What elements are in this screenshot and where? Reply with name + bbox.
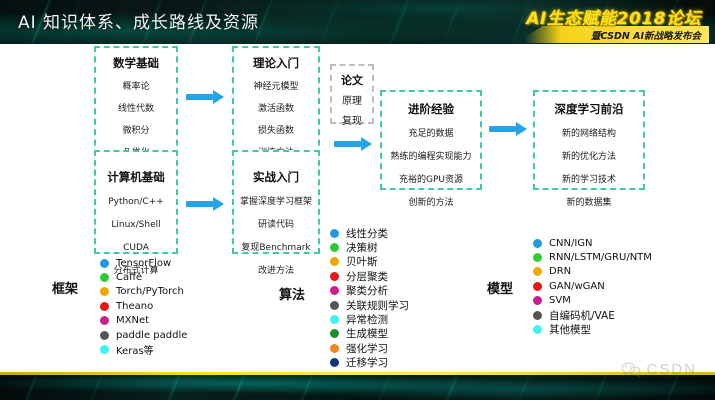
logo-sub-text: 暨CSDN AI新战略发布会 [591,28,701,42]
arrow-to-advanced-experience [334,137,372,151]
legend-item[interactable]: 贝叶斯 [330,255,409,269]
slide-header: AI 知识体系、成长路线及资源 AI生态赋能2018论坛 暨CSDN AI新战略… [0,0,715,44]
box-item: 熟练的编程实现能力 [382,153,480,162]
legend-dot-icon [100,316,109,325]
legend-dot-icon [100,345,109,354]
legend-item[interactable]: 强化学习 [330,341,409,355]
legend-dot-icon [100,302,109,311]
box-item: Python/C++ [96,198,176,207]
legend-item-label: 聚类分析 [346,283,388,298]
legend-label-frameworks: 框架 [52,278,78,297]
legend-item[interactable]: Keras等 [100,342,187,356]
legend-dot-icon [533,325,542,334]
legend-item[interactable]: 决策树 [330,240,409,254]
csdn-watermark: CSDN [621,361,697,378]
wechat-icon [621,362,641,377]
legend-item-label: 分层聚类 [346,269,388,284]
legend-list-models: CNN/IGN RNN/LSTM/GRU/NTM DRN GAN/wGAN SV… [533,236,652,337]
legend-label-models: 模型 [487,278,513,297]
box-advanced-experience: 进阶经验 充足的数据 熟练的编程实现能力 充裕的GPU资源 创新的方法 [380,90,482,190]
legend-item[interactable]: paddle paddle [100,328,187,342]
box-math-foundation: 数学基础 概率论 线性代数 微积分 凸优化 统计机器学习 [94,46,178,156]
legend-item[interactable]: MXNet [100,314,187,328]
legend-item-label: 关联规则学习 [346,298,409,313]
slide-body: 数学基础 概率论 线性代数 微积分 凸优化 统计机器学习 计算机基础 Pytho… [0,44,715,372]
legend-item-label: MXNet [116,315,149,326]
legend-item[interactable]: Torch/PyTorch [100,285,187,299]
legend-item-label: 贝叶斯 [346,254,378,269]
legend-item-label: DRN [549,266,571,277]
legend-dot-icon [100,331,109,340]
box-practice-intro: 实战入门 掌握深度学习框架 研读代码 复现Benchmark 改进方法 [232,150,320,254]
legend-item[interactable]: 迁移学习 [330,356,409,370]
box-title: 数学基础 [96,55,176,71]
arrow-foundation-to-theory [186,90,224,104]
logo-main-text: AI生态赋能2018论坛 [526,4,701,29]
legend-item[interactable]: DRN [533,265,652,279]
box-cs-foundation: 计算机基础 Python/C++ Linux/Shell CUDA 分布式计算 [94,150,178,254]
legend-list-algorithms: 线性分类 决策树 贝叶斯 分层聚类 聚类分析 关联规则学习 [330,226,409,384]
box-item: 改进方法 [234,267,318,276]
legend-item[interactable]: 分层聚类 [330,269,409,283]
legend-item[interactable]: 自编码机/VAE [533,308,652,322]
legend-item-label: Keras等 [116,342,154,357]
legend-item[interactable]: Caffe [100,270,187,284]
box-item: 充足的数据 [382,130,480,139]
legend-dot-icon [330,229,339,238]
legend-item[interactable]: 线性分类 [330,226,409,240]
legend-item-label: GAN/wGAN [549,281,605,292]
legend-item-label: 决策树 [346,240,378,255]
legend-dot-icon [330,286,339,295]
box-item: 掌握深度学习框架 [234,198,318,207]
watermark-label: CSDN [646,361,697,378]
legend-dot-icon [330,272,339,281]
legend-item-label: 自编码机/VAE [549,308,615,323]
box-item: 复现Benchmark [234,244,318,253]
legend-dot-icon [330,358,339,367]
box-item: 复现 [332,117,372,127]
box-item: Linux/Shell [96,221,176,230]
legend-item-label: TensorFlow [116,258,171,269]
page-title: AI 知识体系、成长路线及资源 [18,8,259,33]
legend-dot-icon [330,329,339,338]
box-item: 研读代码 [234,221,318,230]
legend-item[interactable]: 关联规则学习 [330,298,409,312]
legend-dot-icon [533,239,542,248]
legend-item[interactable]: SVM [533,294,652,308]
legend-dot-icon [100,273,109,282]
legend-dot-icon [330,301,339,310]
legend-item-label: 生成模型 [346,326,388,341]
box-item: 新的优化方法 [535,153,643,162]
event-logo: AI生态赋能2018论坛 暨CSDN AI新战略发布会 [484,2,709,44]
legend-item-label: RNN/LSTM/GRU/NTM [549,252,652,263]
box-title: 进阶经验 [382,101,480,117]
arrow-to-frontier [489,122,527,136]
box-title: 理论入门 [234,55,318,71]
legend-dot-icon [533,253,542,262]
box-item: 微积分 [96,127,176,136]
legend-item[interactable]: 异常检测 [330,312,409,326]
legend-dot-icon [533,311,542,320]
legend-item-label: 其他模型 [549,322,591,337]
legend-item-label: Caffe [116,272,142,283]
legend-item[interactable]: CNN/IGN [533,236,652,250]
legend-dot-icon [533,267,542,276]
box-paper: 论文 原理 复现 [330,64,374,124]
box-title: 论文 [332,72,372,88]
legend-dot-icon [330,344,339,353]
legend-item-label: 强化学习 [346,341,388,356]
legend-item-label: 异常检测 [346,312,388,327]
box-deep-learning-frontier: 深度学习前沿 新的网络结构 新的优化方法 新的学习技术 新的数据集 [533,90,645,190]
box-title: 计算机基础 [96,169,176,185]
legend-list-frameworks: TensorFlow Caffe Torch/PyTorch Theano MX… [100,256,187,357]
footer-background-streaks [0,372,715,400]
slide-footer [0,372,715,400]
arrow-foundation-to-practice [186,197,224,211]
box-item: 线性代数 [96,105,176,114]
legend-dot-icon [330,257,339,266]
legend-label-algorithms: 算法 [279,284,305,303]
box-title: 实战入门 [234,169,318,185]
legend-item[interactable]: GAN/wGAN [533,279,652,293]
legend-dot-icon [100,259,109,268]
box-item: 充裕的GPU资源 [382,176,480,185]
box-item: 概率论 [96,83,176,92]
legend-item-label: 迁移学习 [346,355,388,370]
legend-dot-icon [533,296,542,305]
legend-item-label: 线性分类 [346,226,388,241]
legend-item[interactable]: RNN/LSTM/GRU/NTM [533,250,652,264]
legend-item[interactable]: 其他模型 [533,322,652,336]
legend-item-label: paddle paddle [116,330,187,341]
box-theory-intro: 理论入门 神经元模型 激活函数 损失函数 训练方法 梯度的消失溢出 [232,46,320,156]
legend-item-label: CNN/IGN [549,238,593,249]
legend-dot-icon [100,287,109,296]
legend-item-label: Torch/PyTorch [116,286,184,297]
legend-item-label: Theano [116,301,153,312]
box-item: 创新的方法 [382,199,480,208]
legend-dot-icon [330,243,339,252]
legend-item-label: SVM [549,295,571,306]
box-item: CUDA [96,244,176,253]
legend-dot-icon [330,315,339,324]
box-item: 新的学习技术 [535,176,643,185]
box-title: 深度学习前沿 [535,101,643,117]
box-item: 损失函数 [234,127,318,136]
box-item: 新的网络结构 [535,130,643,139]
legend-item[interactable]: 生成模型 [330,327,409,341]
legend-item[interactable]: 聚类分析 [330,284,409,298]
box-item: 神经元模型 [234,83,318,92]
legend-item[interactable]: Theano [100,299,187,313]
legend-dot-icon [533,282,542,291]
box-item: 新的数据集 [535,199,643,208]
box-item: 原理 [332,97,372,107]
box-item: 激活函数 [234,105,318,114]
legend-item[interactable]: TensorFlow [100,256,187,270]
